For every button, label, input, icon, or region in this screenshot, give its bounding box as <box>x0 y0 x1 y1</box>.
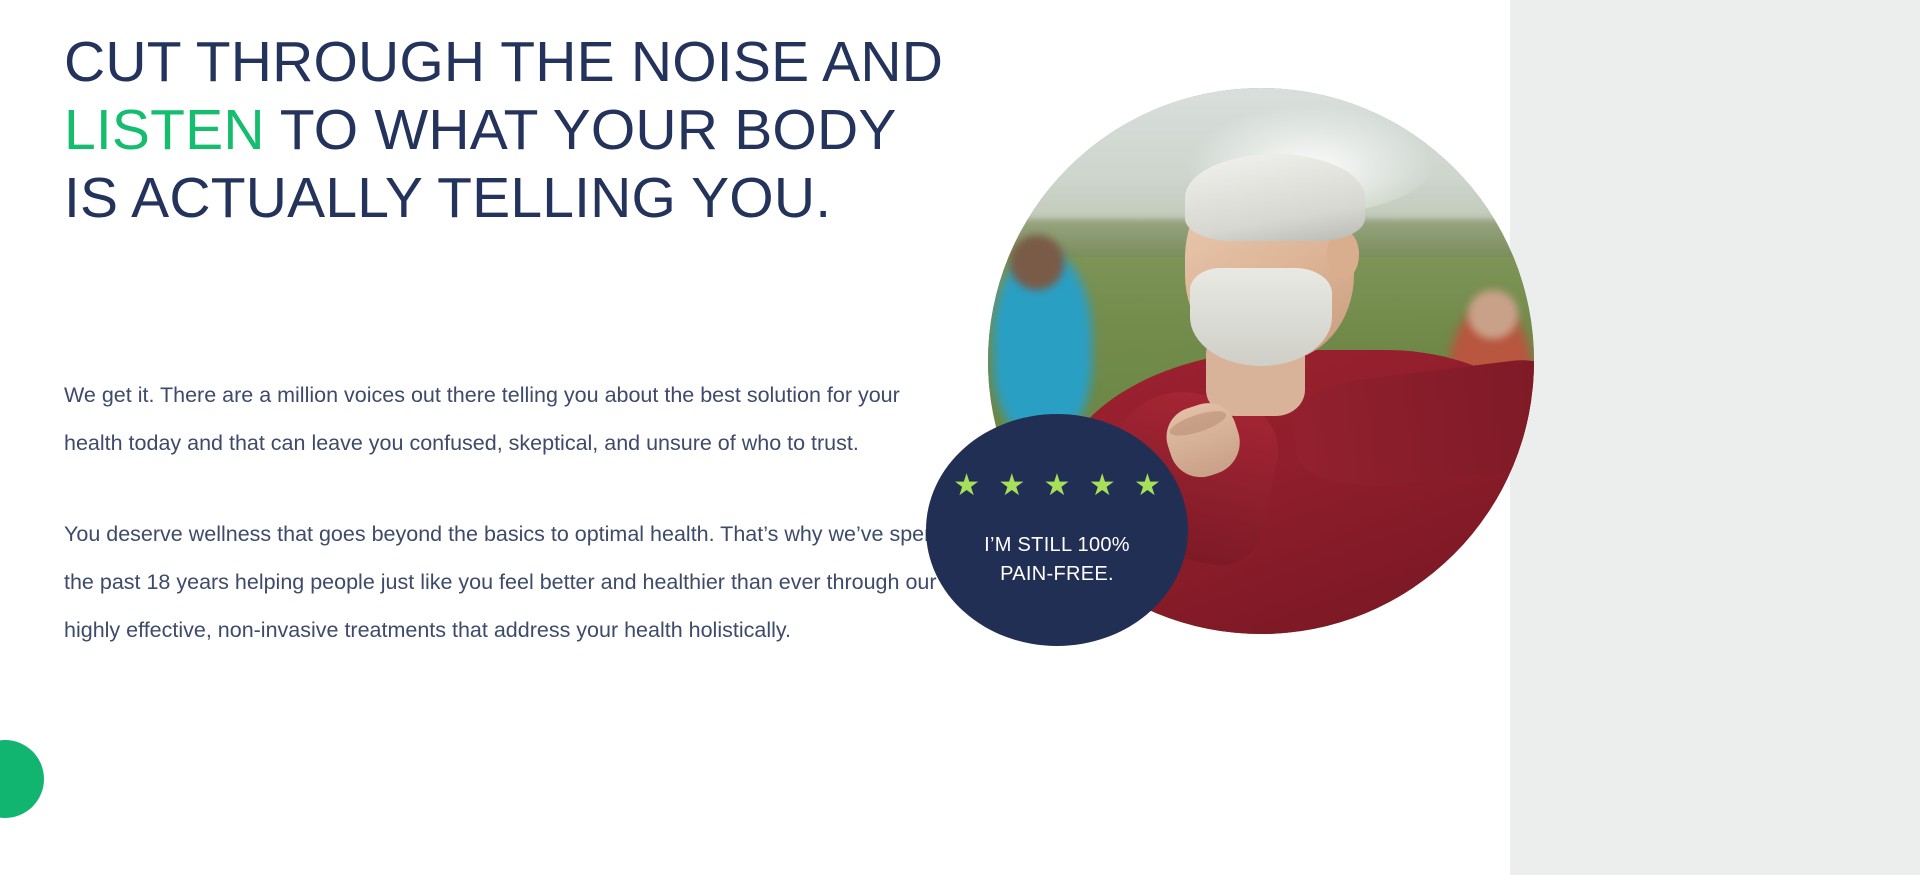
testimonial-quote-line-1: I’M STILL 100% <box>984 531 1130 560</box>
five-star-rating-icon: ★ ★ ★ ★ ★ <box>948 471 1166 501</box>
photo-background-person-right-head <box>1468 290 1517 339</box>
headline-part-before: Cut through the noise and <box>64 30 943 94</box>
headline-accent-word: listen <box>64 98 265 162</box>
testimonial-quote-line-2: PAIN-FREE. <box>984 560 1130 589</box>
decorative-green-circle <box>0 740 44 818</box>
photo-background-person-left-head <box>1010 235 1065 290</box>
photo-subject-beard <box>1190 268 1332 366</box>
body-paragraph-1: We get it. There are a million voices ou… <box>64 371 964 467</box>
text-column: Cut through the noise and listen to what… <box>64 0 1054 875</box>
testimonial-badge: ★ ★ ★ ★ ★ I’M STILL 100% PAIN-FREE. <box>926 414 1188 646</box>
photo-subject-hair <box>1185 154 1365 241</box>
page-section: Cut through the noise and listen to what… <box>0 0 1920 875</box>
testimonial-quote: I’M STILL 100% PAIN-FREE. <box>984 531 1130 589</box>
body-paragraph-2: You deserve wellness that goes beyond th… <box>64 510 964 654</box>
right-gray-panel <box>1510 0 1920 875</box>
page-title: Cut through the noise and listen to what… <box>64 28 964 232</box>
